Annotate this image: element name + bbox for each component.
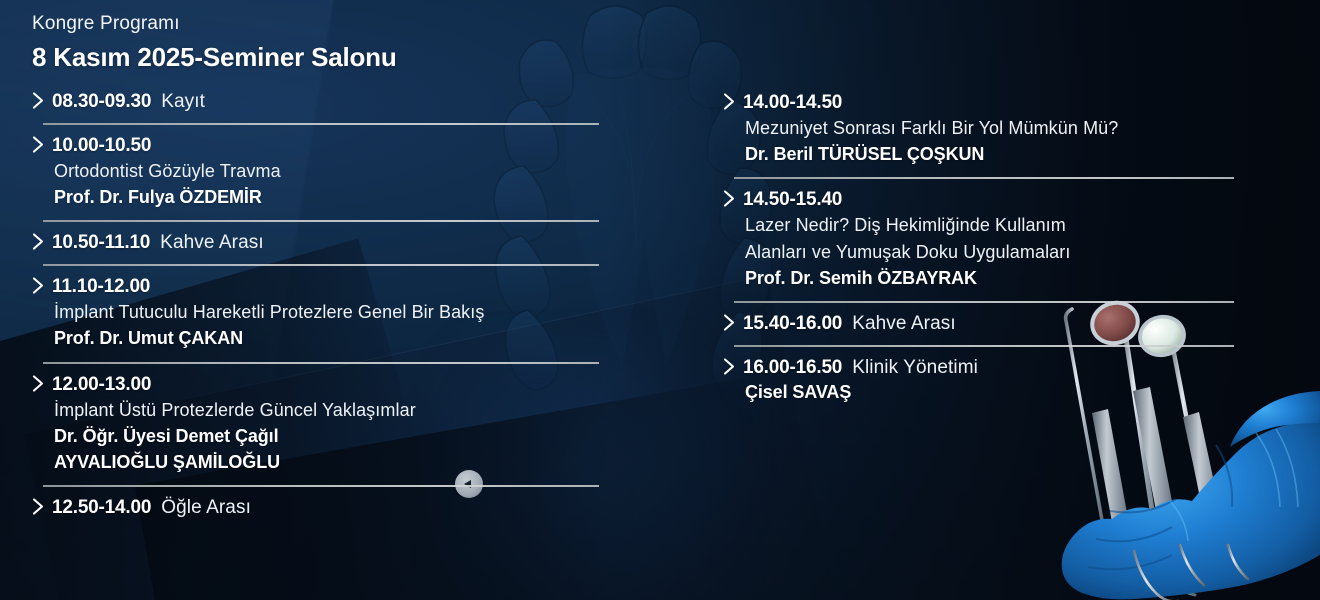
chevron-right-icon <box>32 136 52 210</box>
schedule-item-text: 16.00-16.50Klinik YönetimiÇisel SAVAŞ <box>743 357 1320 405</box>
schedule-item: 16.00-16.50Klinik YönetimiÇisel SAVAŞ <box>723 357 1320 405</box>
schedule-item-time: 12.00-13.00 <box>52 374 151 396</box>
schedule-item-speaker: Prof. Dr. Fulya ÖZDEMİR <box>52 184 649 210</box>
schedule-list-right: 14.00-14.50Mezuniyet Sonrası Farklı Bir … <box>723 0 1320 406</box>
schedule-item: 14.50-15.40Lazer Nedir? Diş Hekimliğinde… <box>723 189 1320 303</box>
schedule-item-time: 15.40-16.00 <box>743 313 842 335</box>
schedule-item-headline: 11.10-12.00 <box>52 276 649 298</box>
schedule-item-speaker: Çisel SAVAŞ <box>743 379 1320 405</box>
schedule-item: 10.00-10.50Ortodontist Gözüyle TravmaPro… <box>32 135 649 222</box>
chevron-right-icon <box>32 92 52 113</box>
schedule-item: 11.10-12.00İmplant Tutuculu Hareketli Pr… <box>32 276 649 363</box>
schedule-item: 12.00-13.00İmplant Üstü Protezlerde Günc… <box>32 374 649 487</box>
schedule-item: 12.50-14.00Öğle Arası <box>32 497 649 519</box>
program-column-left: Kongre Programı 8 Kasım 2025-Seminer Sal… <box>0 0 649 600</box>
schedule-item-divider <box>734 301 1234 303</box>
chevron-right-icon <box>32 375 52 475</box>
schedule-item-divider <box>734 177 1234 179</box>
schedule-item-body: 14.00-14.50Mezuniyet Sonrası Farklı Bir … <box>723 92 1320 167</box>
schedule-item-time: 14.00-14.50 <box>743 92 842 114</box>
schedule-item-divider <box>43 264 599 266</box>
program-column-right: 14.00-14.50Mezuniyet Sonrası Farklı Bir … <box>723 0 1320 600</box>
schedule-item-time: 11.10-12.00 <box>52 276 150 298</box>
schedule-item-text: 12.50-14.00Öğle Arası <box>52 497 649 519</box>
schedule-item-time: 08.30-09.30 <box>52 91 151 113</box>
schedule-item-divider <box>43 485 599 487</box>
schedule-item-headline: 14.50-15.40 <box>743 189 1320 211</box>
schedule-item-headline: 08.30-09.30Kayıt <box>52 91 649 113</box>
poster-title: 8 Kasım 2025-Seminer Salonu <box>32 41 649 74</box>
chevron-right-icon <box>32 277 52 351</box>
schedule-item-time: 16.00-16.50 <box>743 357 842 379</box>
schedule-item-divider <box>734 345 1234 347</box>
schedule-item: 15.40-16.00Kahve Arası <box>723 313 1320 347</box>
schedule-item-time: 12.50-14.00 <box>52 497 151 519</box>
chevron-right-icon <box>32 498 52 519</box>
schedule-item-body: 12.00-13.00İmplant Üstü Protezlerde Günc… <box>32 374 649 475</box>
schedule-list-left: 08.30-09.30Kayıt10.00-10.50Ortodontist G… <box>32 91 649 519</box>
chevron-right-icon <box>723 93 743 167</box>
chevron-right-icon <box>723 358 743 405</box>
schedule-item-text: 14.50-15.40Lazer Nedir? Diş Hekimliğinde… <box>743 189 1320 291</box>
schedule-item-body: 16.00-16.50Klinik YönetimiÇisel SAVAŞ <box>723 357 1320 405</box>
schedule-item-body: 08.30-09.30Kayıt <box>32 91 649 113</box>
schedule-item-subject: Alanları ve Yumuşak Doku Uygulamaları <box>743 239 1320 265</box>
schedule-item-divider <box>43 123 599 125</box>
schedule-item-subject: İmplant Tutuculu Hareketli Protezlere Ge… <box>52 299 649 325</box>
schedule-item-label: Öğle Arası <box>161 497 251 519</box>
schedule-item-body: 11.10-12.00İmplant Tutuculu Hareketli Pr… <box>32 276 649 351</box>
schedule-item-text: 08.30-09.30Kayıt <box>52 91 649 113</box>
schedule-item-subject: Ortodontist Gözüyle Travma <box>52 158 649 184</box>
schedule-item-label: Klinik Yönetimi <box>852 357 978 379</box>
schedule-item-headline: 12.50-14.00Öğle Arası <box>52 497 649 519</box>
schedule-item-subject: Lazer Nedir? Diş Hekimliğinde Kullanım <box>743 212 1320 238</box>
schedule-item-headline: 16.00-16.50Klinik Yönetimi <box>743 357 1320 379</box>
schedule-item-speaker: AYVALIOĞLU ŞAMİLOĞLU <box>52 449 649 475</box>
schedule-item-text: 12.00-13.00İmplant Üstü Protezlerde Günc… <box>52 374 649 475</box>
schedule-item-speaker: Dr. Öğr. Üyesi Demet Çağıl <box>52 423 649 449</box>
schedule-item-headline: 15.40-16.00Kahve Arası <box>743 313 1320 335</box>
congress-program-poster: Kongre Programı 8 Kasım 2025-Seminer Sal… <box>0 0 1320 600</box>
schedule-item-subject: Mezuniyet Sonrası Farklı Bir Yol Mümkün … <box>743 115 1320 141</box>
schedule-item-label: Kahve Arası <box>852 313 956 335</box>
chevron-right-icon <box>32 233 52 254</box>
schedule-item-speaker: Prof. Dr. Semih ÖZBAYRAK <box>743 265 1320 291</box>
schedule-item-text: 10.50-11.10Kahve Arası <box>52 232 649 254</box>
schedule-item-label: Kayıt <box>161 91 205 113</box>
schedule-item-body: 15.40-16.00Kahve Arası <box>723 313 1320 335</box>
schedule-item-body: 12.50-14.00Öğle Arası <box>32 497 649 519</box>
chevron-right-icon <box>723 314 743 335</box>
chevron-right-icon <box>723 190 743 291</box>
schedule-item-speaker: Dr. Beril TÜRÜSEL ÇOŞKUN <box>743 141 1320 167</box>
schedule-item-text: 14.00-14.50Mezuniyet Sonrası Farklı Bir … <box>743 92 1320 167</box>
schedule-item-headline: 12.00-13.00 <box>52 374 649 396</box>
schedule-item-body: 10.50-11.10Kahve Arası <box>32 232 649 254</box>
schedule-item-divider <box>43 220 599 222</box>
schedule-item-text: 10.00-10.50Ortodontist Gözüyle TravmaPro… <box>52 135 649 210</box>
schedule-item-time: 14.50-15.40 <box>743 189 842 211</box>
schedule-item-label: Kahve Arası <box>160 232 264 254</box>
poster-kicker: Kongre Programı <box>32 12 649 37</box>
program-columns: Kongre Programı 8 Kasım 2025-Seminer Sal… <box>0 0 1320 600</box>
schedule-item-time: 10.00-10.50 <box>52 135 151 157</box>
schedule-item-divider <box>43 362 599 364</box>
schedule-item-text: 11.10-12.00İmplant Tutuculu Hareketli Pr… <box>52 276 649 351</box>
schedule-item-body: 14.50-15.40Lazer Nedir? Diş Hekimliğinde… <box>723 189 1320 291</box>
schedule-item-text: 15.40-16.00Kahve Arası <box>743 313 1320 335</box>
poster-header: Kongre Programı 8 Kasım 2025-Seminer Sal… <box>32 0 649 73</box>
schedule-item-subject: İmplant Üstü Protezlerde Güncel Yaklaşım… <box>52 397 649 423</box>
schedule-item-speaker: Prof. Dr. Umut ÇAKAN <box>52 325 649 351</box>
schedule-item: 14.00-14.50Mezuniyet Sonrası Farklı Bir … <box>723 92 1320 179</box>
schedule-item-body: 10.00-10.50Ortodontist Gözüyle TravmaPro… <box>32 135 649 210</box>
schedule-item: 08.30-09.30Kayıt <box>32 91 649 125</box>
schedule-item-time: 10.50-11.10 <box>52 232 150 254</box>
schedule-item-headline: 10.50-11.10Kahve Arası <box>52 232 649 254</box>
schedule-item-headline: 10.00-10.50 <box>52 135 649 157</box>
schedule-item: 10.50-11.10Kahve Arası <box>32 232 649 266</box>
schedule-item-headline: 14.00-14.50 <box>743 92 1320 114</box>
